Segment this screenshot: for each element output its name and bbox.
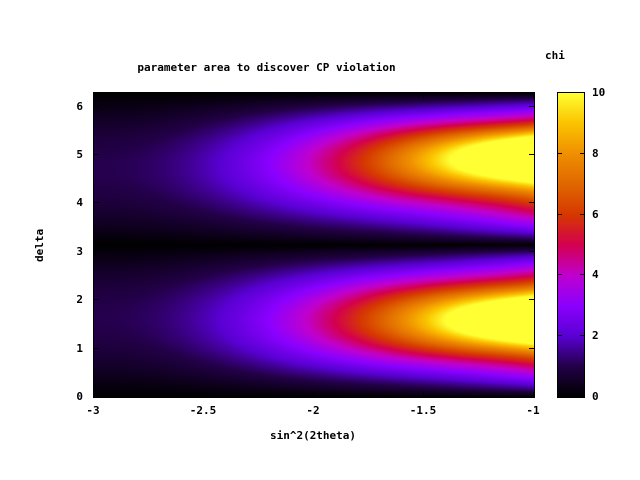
page-title: parameter area to discover CP violation (0, 62, 533, 73)
x-tick-mark (313, 392, 314, 397)
x-tick-mark-top (93, 93, 94, 98)
y-tick-mark-right (529, 299, 534, 300)
x-tick-mark (533, 392, 534, 397)
colorbar-tick-mark (580, 274, 584, 275)
y-tick-label: 3 (57, 246, 83, 257)
x-tick-label: -3 (73, 405, 113, 416)
y-tick-mark (94, 348, 99, 349)
y-tick-label: 5 (57, 149, 83, 160)
colorbar-tick-mark (580, 214, 584, 215)
y-tick-label: 1 (57, 343, 83, 354)
colorbar (557, 92, 585, 398)
colorbar-title: chi (545, 50, 565, 61)
y-tick-mark (94, 251, 99, 252)
x-tick-label: -1 (513, 405, 553, 416)
colorbar-tick-mark (558, 274, 562, 275)
colorbar-tick-label: 4 (592, 269, 599, 280)
colorbar-tick-label: 10 (592, 87, 605, 98)
y-tick-mark-right (529, 202, 534, 203)
y-tick-mark (94, 396, 99, 397)
x-tick-mark (203, 392, 204, 397)
y-tick-mark (94, 202, 99, 203)
colorbar-tick-mark (558, 335, 562, 336)
x-tick-mark (93, 392, 94, 397)
y-tick-mark (94, 106, 99, 107)
x-tick-mark-top (203, 93, 204, 98)
y-tick-label: 2 (57, 294, 83, 305)
x-axis-label: sin^2(2theta) (93, 430, 533, 441)
y-tick-label: 0 (57, 391, 83, 402)
colorbar-tick-label: 8 (592, 148, 599, 159)
colorbar-tick-label: 6 (592, 209, 599, 220)
y-tick-mark-right (529, 348, 534, 349)
y-tick-mark-right (529, 106, 534, 107)
x-tick-label: -2.5 (183, 405, 223, 416)
x-tick-label: -2 (293, 405, 333, 416)
y-tick-mark (94, 154, 99, 155)
x-tick-label: -1.5 (403, 405, 443, 416)
colorbar-tick-mark (580, 153, 584, 154)
colorbar-gradient (558, 93, 584, 397)
x-tick-mark-top (423, 93, 424, 98)
x-tick-mark-top (313, 93, 314, 98)
y-tick-label: 4 (57, 197, 83, 208)
x-tick-mark-top (533, 93, 534, 98)
y-tick-mark-right (529, 154, 534, 155)
colorbar-tick-label: 2 (592, 330, 599, 341)
colorbar-tick-mark (580, 335, 584, 336)
y-tick-label: 6 (57, 101, 83, 112)
heatmap-image (94, 93, 534, 397)
colorbar-tick-mark (558, 153, 562, 154)
y-tick-mark-right (529, 251, 534, 252)
heatmap-plot-area (93, 92, 535, 398)
plot-canvas-root: parameter area to discover CP violation … (0, 0, 640, 480)
colorbar-tick-mark (558, 214, 562, 215)
x-tick-mark (423, 392, 424, 397)
y-tick-mark (94, 299, 99, 300)
y-axis-label: delta (34, 229, 45, 262)
colorbar-tick-label: 0 (592, 391, 599, 402)
